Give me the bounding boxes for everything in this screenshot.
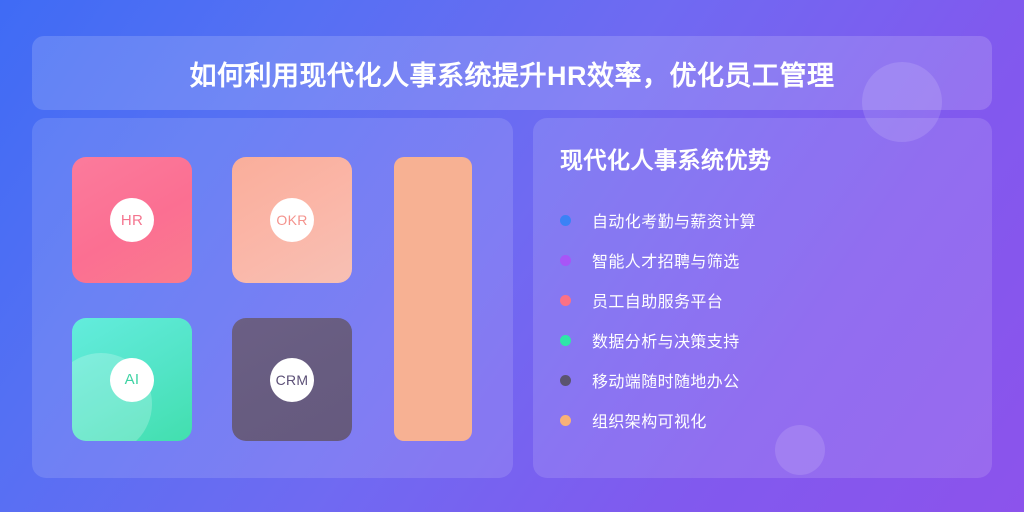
bullet-dot-icon xyxy=(560,295,571,306)
page-title: 如何利用现代化人事系统提升HR效率，优化员工管理 xyxy=(190,54,835,93)
benefit-label: 自动化考勤与薪资计算 xyxy=(592,208,756,232)
card-badge-crm: CRM xyxy=(270,358,314,402)
benefit-label: 员工自助服务平台 xyxy=(592,288,723,312)
tall-bar xyxy=(394,157,472,441)
list-item: 员工自助服务平台 xyxy=(560,280,960,320)
infographic-canvas: 如何利用现代化人事系统提升HR效率，优化员工管理 HR OKR AI CRM 现… xyxy=(0,0,1024,512)
module-card-okr[interactable]: OKR xyxy=(232,157,352,283)
benefits-title: 现代化人事系统优势 xyxy=(560,141,772,175)
card-badge-hr: HR xyxy=(110,198,154,242)
benefit-label: 组织架构可视化 xyxy=(592,408,707,432)
list-item: 数据分析与决策支持 xyxy=(560,320,960,360)
module-card-ai[interactable]: AI xyxy=(72,318,192,441)
card-badge-okr: OKR xyxy=(270,198,314,242)
list-item: 自动化考勤与薪资计算 xyxy=(560,200,960,240)
benefit-label: 数据分析与决策支持 xyxy=(592,328,740,352)
benefit-label: 智能人才招聘与筛选 xyxy=(592,248,740,272)
list-item: 智能人才招聘与筛选 xyxy=(560,240,960,280)
module-card-hr[interactable]: HR xyxy=(72,157,192,283)
bullet-dot-icon xyxy=(560,215,571,226)
list-item: 移动端随时随地办公 xyxy=(560,360,960,400)
list-item: 组织架构可视化 xyxy=(560,400,960,440)
bullet-dot-icon xyxy=(560,375,571,386)
benefit-label: 移动端随时随地办公 xyxy=(592,368,740,392)
module-card-crm[interactable]: CRM xyxy=(232,318,352,441)
bullet-dot-icon xyxy=(560,335,571,346)
header-panel: 如何利用现代化人事系统提升HR效率，优化员工管理 xyxy=(32,36,992,110)
card-badge-ai: AI xyxy=(110,358,154,402)
benefits-list: 自动化考勤与薪资计算 智能人才招聘与筛选 员工自助服务平台 数据分析与决策支持 … xyxy=(560,200,960,440)
bullet-dot-icon xyxy=(560,415,571,426)
bullet-dot-icon xyxy=(560,255,571,266)
